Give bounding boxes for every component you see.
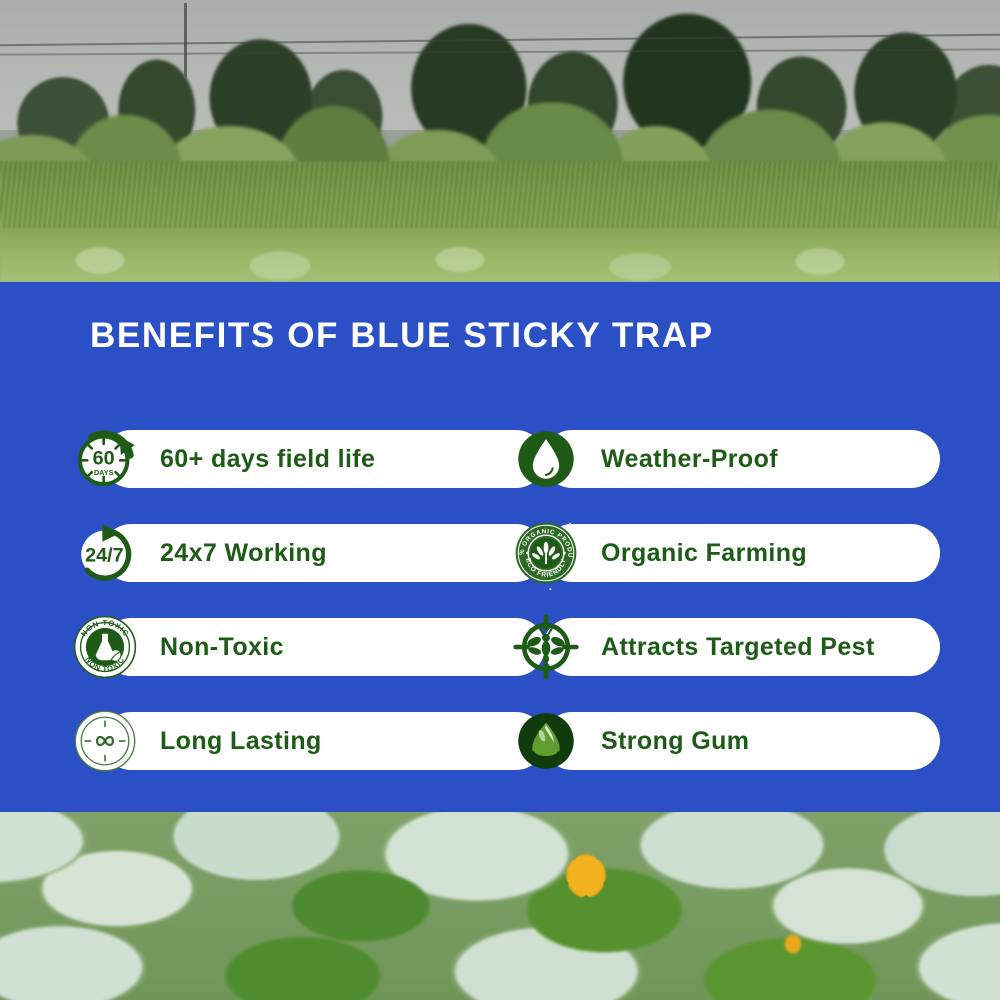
organic-eco-badge-icon: 100% ORGANIC PRODUCT ECO FRIENDLY	[513, 520, 579, 586]
crosshair-insect-icon	[513, 614, 579, 680]
benefit-item-organic-farming[interactable]: 100% ORGANIC PRODUCT ECO FRIENDLY Organi…	[513, 524, 807, 582]
benefits-panel: BENEFITS OF BLUE STICKY TRAP	[0, 282, 1000, 812]
yellow-flower-secondary	[780, 929, 806, 959]
benefits-row: 24/7 24x7 Working	[0, 524, 1000, 618]
svg-text:60: 60	[93, 447, 115, 469]
benefits-row: NON TOXIC NON TOXIC Non-Toxic	[0, 618, 1000, 712]
sixty-days-clock-icon: 60 DAYS	[72, 426, 138, 492]
non-toxic-badge-icon: NON TOXIC NON TOXIC	[72, 614, 138, 680]
leaf-canopy	[0, 812, 1000, 1000]
benefits-row: 60 DAYS 60+ days field life	[0, 430, 1000, 524]
benefit-label: Attracts Targeted Pest	[601, 633, 875, 662]
benefit-label: Strong Gum	[601, 727, 749, 756]
benefit-label: Organic Farming	[601, 539, 807, 568]
svg-text:DAYS: DAYS	[94, 468, 114, 477]
infinity-icon	[72, 708, 138, 774]
gum-droplet-icon	[513, 708, 579, 774]
infographic-poster: BENEFITS OF BLUE STICKY TRAP	[0, 0, 1000, 1000]
benefit-label: 60+ days field life	[160, 445, 375, 474]
crop-row-mid	[0, 161, 1000, 234]
benefits-grid: 60 DAYS 60+ days field life	[0, 430, 1000, 806]
benefit-item-60-days[interactable]: 60 DAYS 60+ days field life	[72, 430, 375, 488]
twenty-four-seven-icon: 24/7	[72, 520, 138, 586]
benefit-item-non-toxic[interactable]: NON TOXIC NON TOXIC Non-Toxic	[72, 618, 284, 676]
benefit-label: Long Lasting	[160, 727, 322, 756]
benefit-label: 24x7 Working	[160, 539, 327, 568]
water-droplet-icon	[513, 426, 579, 492]
benefit-label: Weather-Proof	[601, 445, 778, 474]
svg-text:24/7: 24/7	[85, 545, 124, 567]
benefit-item-strong-gum[interactable]: Strong Gum	[513, 712, 749, 770]
benefit-label: Non-Toxic	[160, 633, 284, 662]
utility-pole	[184, 3, 187, 79]
farm-field-photo	[0, 0, 1000, 282]
squash-leaves-photo	[0, 812, 1000, 1000]
benefit-item-attracts-pest[interactable]: Attracts Targeted Pest	[513, 618, 875, 676]
benefit-item-long-lasting[interactable]: Long Lasting	[72, 712, 322, 770]
crop-row-front	[0, 228, 1000, 282]
benefit-item-24x7[interactable]: 24/7 24x7 Working	[72, 524, 327, 582]
page-title: BENEFITS OF BLUE STICKY TRAP	[90, 316, 714, 356]
benefit-item-weather-proof[interactable]: Weather-Proof	[513, 430, 778, 488]
benefits-row: Long Lasting Strong Gum	[0, 712, 1000, 806]
